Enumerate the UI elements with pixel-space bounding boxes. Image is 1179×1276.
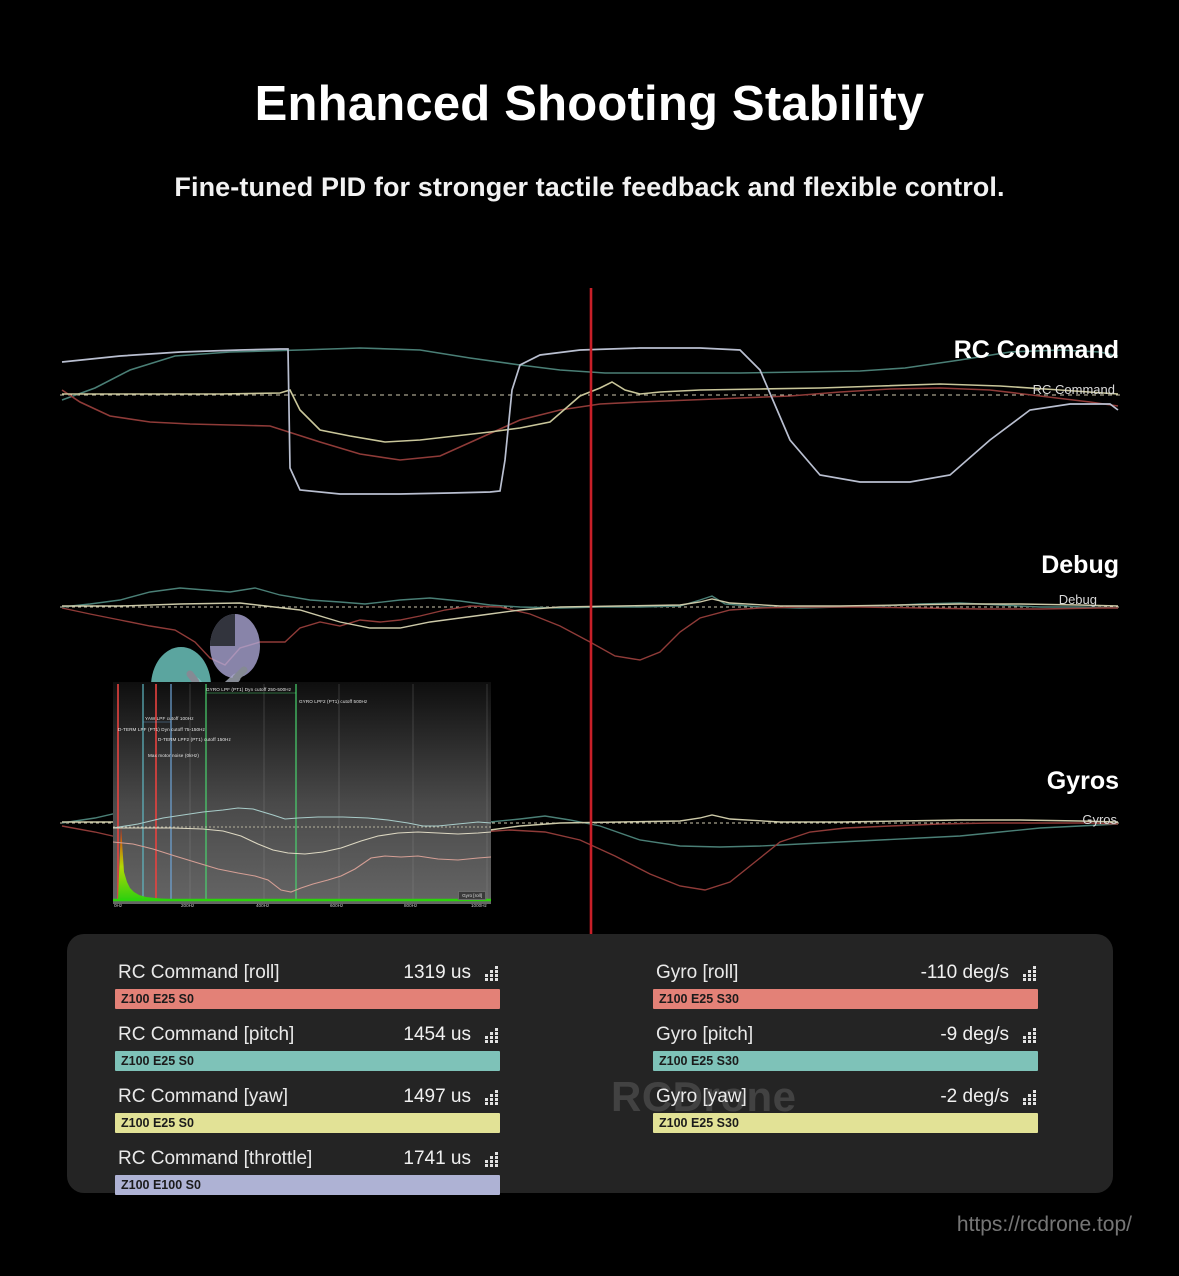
bar-chart-icon[interactable] xyxy=(485,966,500,981)
spectrum-tick-0hz: 0Hz xyxy=(114,903,122,908)
legend-label: RC Command [throttle] xyxy=(118,1148,312,1170)
panel-title-rc-command: RC Command xyxy=(954,336,1119,365)
panel-tag-rc-command: RC Command xyxy=(1033,382,1115,397)
panel-title-gyros: Gyros xyxy=(1047,767,1119,796)
legend-value: -9 deg/s xyxy=(940,1024,1009,1046)
legend-label: RC Command [pitch] xyxy=(118,1024,294,1046)
panel-tag-debug: Debug xyxy=(1059,592,1097,607)
legend-item[interactable]: Gyro [pitch] -9 deg/s Z100 E25 S30 xyxy=(653,1022,1038,1071)
legend-panel: RC Command [roll] 1319 us Z100 E25 S0 RC xyxy=(67,934,1113,1193)
legend-column-rc-command: RC Command [roll] 1319 us Z100 E25 S0 RC xyxy=(115,960,500,1208)
legend-bar-label: Z100 E25 S0 xyxy=(115,1116,194,1130)
spectrum-tick-600hz: 600Hz xyxy=(330,903,343,908)
spectrum-series-badge: Gyro [roll] xyxy=(458,891,486,900)
spectrum-tick-400hz: 400Hz xyxy=(256,903,269,908)
bar-chart-icon[interactable] xyxy=(485,1152,500,1167)
legend-row-header: Gyro [pitch] -9 deg/s xyxy=(653,1022,1038,1048)
legend-row-header: RC Command [pitch] 1454 us xyxy=(115,1022,500,1048)
spectrum-tick-1000hz: 1000Hz xyxy=(471,903,487,908)
spectrum-annotation-max-motor-noise: Max motor noise (0kHz) xyxy=(148,754,199,759)
slide-canvas: Enhanced Shooting Stability Fine-tuned P… xyxy=(0,0,1179,1276)
spectrum-tick-800hz: 800Hz xyxy=(404,903,417,908)
legend-color-bar[interactable]: Z100 E25 S0 xyxy=(115,989,500,1009)
spectrum-annotation-gyro-lpf2: GYRO LPF2 (PT1) cutoff 500Hz xyxy=(299,700,367,705)
spectrum-annotation-dterm-lpf2: D-TERM LPF2 (PT1) cutoff 150Hz xyxy=(158,738,231,743)
brand-watermark: RCDrone xyxy=(611,1073,797,1121)
legend-bar-label: Z100 E25 S30 xyxy=(653,992,739,1006)
spectrum-svg xyxy=(113,676,491,914)
legend-value: 1497 us xyxy=(403,1086,471,1108)
legend-item[interactable]: RC Command [yaw] 1497 us Z100 E25 S0 xyxy=(115,1084,500,1133)
legend-label: RC Command [roll] xyxy=(118,962,280,984)
spectrum-analyzer-inset[interactable]: GYRO LPF (PT1) Dyn cutoff 250-500Hz GYRO… xyxy=(113,676,491,914)
bar-chart-icon[interactable] xyxy=(1023,966,1038,981)
legend-bar-label: Z100 E100 S0 xyxy=(115,1178,201,1192)
legend-value: -110 deg/s xyxy=(921,962,1009,984)
spectrum-tick-200hz: 200Hz xyxy=(181,903,194,908)
spectrum-annotation-yaw-lpf: YAW LPF cutoff 100Hz xyxy=(145,717,194,722)
legend-color-bar[interactable]: Z100 E25 S30 xyxy=(653,989,1038,1009)
legend-bar-label: Z100 E25 S0 xyxy=(115,1054,194,1068)
legend-row-header: RC Command [roll] 1319 us xyxy=(115,960,500,986)
legend-value: 1741 us xyxy=(403,1148,471,1170)
page-title: Enhanced Shooting Stability xyxy=(0,78,1179,132)
legend-color-bar[interactable]: Z100 E100 S0 xyxy=(115,1175,500,1195)
panel-tag-gyros: Gyros xyxy=(1082,812,1117,827)
url-watermark: https://rcdrone.top/ xyxy=(957,1213,1132,1237)
bar-chart-icon[interactable] xyxy=(485,1028,500,1043)
panel-title-debug: Debug xyxy=(1041,551,1119,580)
legend-value: 1454 us xyxy=(403,1024,471,1046)
legend-row-header: RC Command [throttle] 1741 us xyxy=(115,1146,500,1172)
legend-row-header: Gyro [roll] -110 deg/s xyxy=(653,960,1038,986)
legend-label: RC Command [yaw] xyxy=(118,1086,288,1108)
legend-bar-label: Z100 E25 S30 xyxy=(653,1054,739,1068)
legend-item[interactable]: RC Command [pitch] 1454 us Z100 E25 S0 xyxy=(115,1022,500,1071)
legend-label: Gyro [roll] xyxy=(656,962,738,984)
bar-chart-icon[interactable] xyxy=(1023,1090,1038,1105)
legend-bar-label: Z100 E25 S0 xyxy=(115,992,194,1006)
legend-row-header: RC Command [yaw] 1497 us xyxy=(115,1084,500,1110)
legend-label: Gyro [pitch] xyxy=(656,1024,753,1046)
legend-color-bar[interactable]: Z100 E25 S0 xyxy=(115,1051,500,1071)
bar-chart-icon[interactable] xyxy=(485,1090,500,1105)
legend-item[interactable]: Gyro [roll] -110 deg/s Z100 E25 S30 xyxy=(653,960,1038,1009)
bar-chart-icon[interactable] xyxy=(1023,1028,1038,1043)
legend-color-bar[interactable]: Z100 E25 S30 xyxy=(653,1051,1038,1071)
legend-item[interactable]: RC Command [roll] 1319 us Z100 E25 S0 xyxy=(115,960,500,1009)
spectrum-annotation-gyro-lpf: GYRO LPF (PT1) Dyn cutoff 250-500Hz xyxy=(206,688,291,693)
legend-value: -2 deg/s xyxy=(940,1086,1009,1108)
page-subtitle: Fine-tuned PID for stronger tactile feed… xyxy=(0,172,1179,203)
legend-item[interactable]: RC Command [throttle] 1741 us Z100 E100 … xyxy=(115,1146,500,1195)
spectrum-annotation-dterm-lpf: D-TERM LPF (PT1) Dyn cutoff 75-150Hz xyxy=(118,728,205,733)
legend-value: 1319 us xyxy=(403,962,471,984)
legend-color-bar[interactable]: Z100 E25 S0 xyxy=(115,1113,500,1133)
